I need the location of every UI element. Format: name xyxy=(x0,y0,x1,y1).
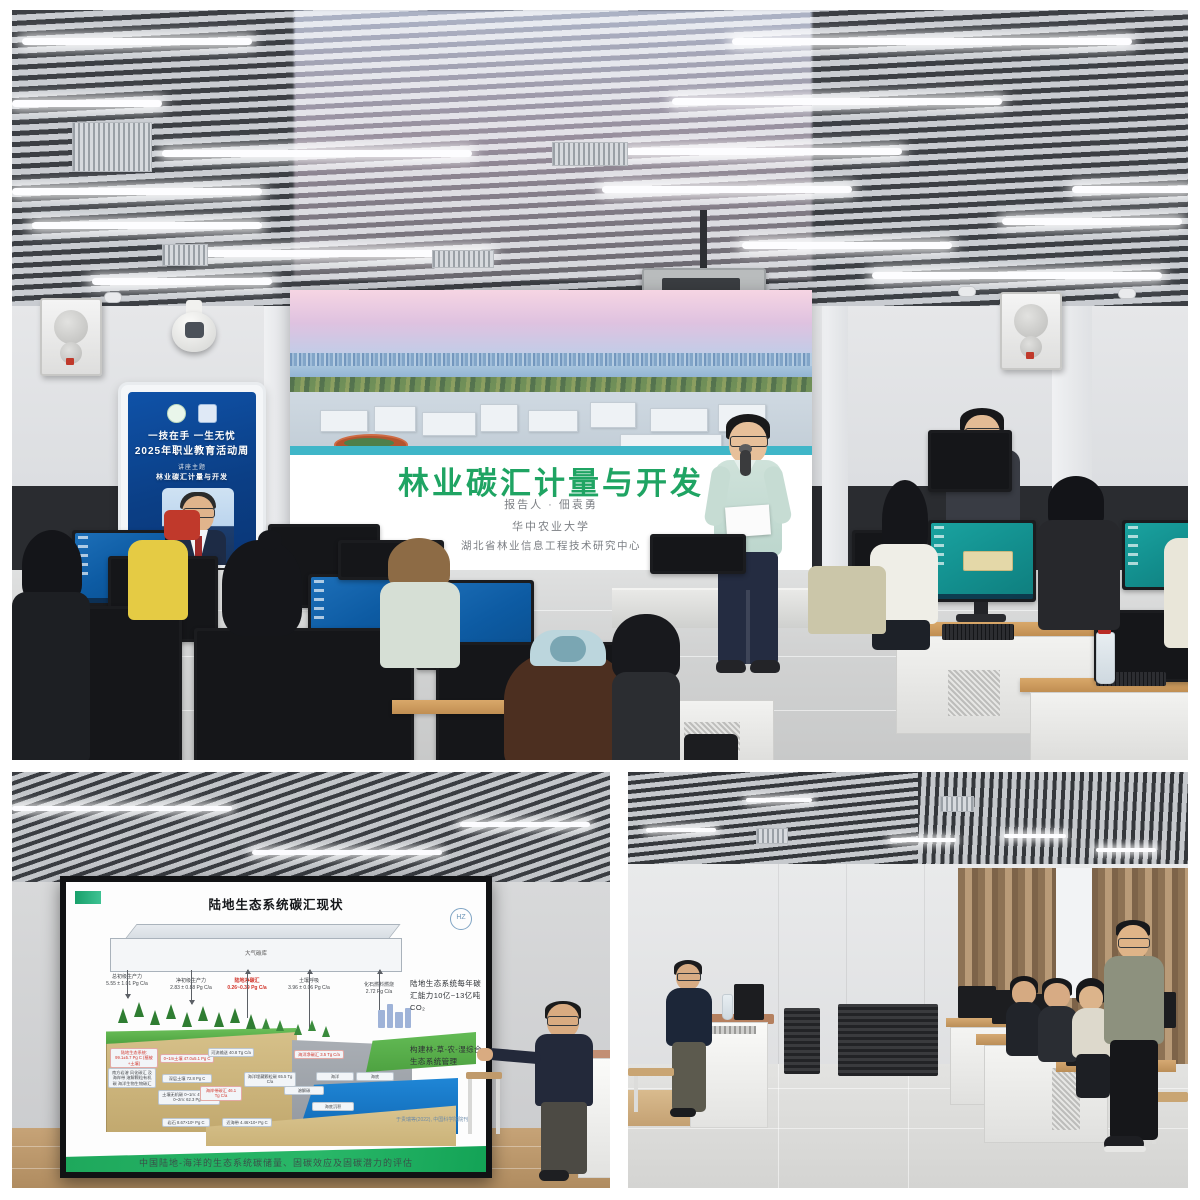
glasses-icon xyxy=(547,1016,579,1026)
ceiling-light xyxy=(646,828,716,832)
ceiling-light xyxy=(672,98,1002,105)
tree-icon xyxy=(294,1024,302,1035)
stool-leg xyxy=(468,1079,472,1134)
shoe-right xyxy=(750,660,780,673)
university-seal-icon: HZ xyxy=(450,908,472,930)
hair xyxy=(222,540,302,636)
monitor xyxy=(928,520,1036,602)
tree-icon xyxy=(322,1026,330,1037)
microphone-icon xyxy=(740,450,751,476)
atmosphere-box: 大气碳库 xyxy=(110,938,402,972)
stock-label-6: 河流输送 40.8 Tg C/a xyxy=(208,1048,254,1057)
air-vent xyxy=(552,142,628,166)
banner-sub-label: 讲座主题 xyxy=(128,462,256,471)
shoe-left xyxy=(716,660,746,673)
flux-arrow-down xyxy=(127,970,128,998)
logo-icon xyxy=(167,404,186,423)
ceiling-light xyxy=(742,242,952,249)
monitor xyxy=(928,430,1012,492)
slide-title: 陆地生态系统碳汇现状 xyxy=(66,894,486,913)
led-display: 陆地生态系统碳汇现状 HZ 大气碳库 总初级生产力 5.55 ± 1.01 Pg… xyxy=(60,876,492,1178)
building xyxy=(528,410,578,432)
keyboard xyxy=(942,624,1014,640)
ceiling-light xyxy=(162,150,472,157)
ocean-label-c: 溶解碳 xyxy=(284,1086,324,1095)
shoe xyxy=(670,1108,696,1117)
ceiling-light xyxy=(622,148,902,155)
desktop-window xyxy=(963,551,1013,571)
ceiling-light xyxy=(12,188,262,195)
tree-icon xyxy=(262,1018,270,1029)
camera-lens xyxy=(185,322,204,338)
tree-icon xyxy=(198,1006,208,1021)
building xyxy=(590,402,636,428)
ocean-label-a: 海洋 xyxy=(316,1072,354,1081)
flux-arrow-down xyxy=(191,970,192,1004)
stock-label-4: 岩石 8.67×10⁶ Pg C xyxy=(162,1118,210,1127)
ceiling-light xyxy=(12,100,162,107)
tree-icon xyxy=(118,1008,128,1023)
standing-student xyxy=(1104,920,1166,1162)
monitor-screen xyxy=(931,523,1033,599)
floor-tile-line xyxy=(908,1064,909,1188)
student-shirt xyxy=(1038,520,1120,630)
stock-label-0: 陆地生态系统: 99.1±5.7 Pg C (植被+土壤) xyxy=(110,1048,158,1068)
jacket-on-chair xyxy=(808,566,886,634)
slide-surface: 陆地生态系统碳汇现状 HZ 大气碳库 总初级生产力 5.55 ± 1.01 Pg… xyxy=(66,882,486,1172)
ceiling-light xyxy=(12,806,232,811)
stool-leg xyxy=(496,1079,500,1134)
smoke-detector xyxy=(958,286,976,297)
building xyxy=(374,406,416,432)
tree-icon xyxy=(230,1008,240,1023)
ptz-camera xyxy=(172,300,216,352)
tree-icon xyxy=(276,1020,284,1031)
seated-student xyxy=(208,540,312,660)
taskbar xyxy=(931,594,1033,599)
tree-icon xyxy=(214,1012,224,1027)
ceiling-light xyxy=(460,822,590,827)
glasses-icon xyxy=(1118,938,1150,948)
monitor-screen xyxy=(931,433,1009,489)
ceiling-light xyxy=(252,850,442,855)
stock-label-7: 海洋净碳汇 3.5 Tg C/a xyxy=(294,1050,344,1059)
desktop-icons xyxy=(1128,526,1138,566)
speaker-logo xyxy=(66,358,74,365)
speaker-logo xyxy=(1026,352,1034,359)
building xyxy=(480,404,518,432)
lecturer-polo-shirt xyxy=(535,1034,593,1106)
tree-icon xyxy=(134,1002,144,1017)
student-trousers xyxy=(1110,1040,1158,1140)
monitor xyxy=(958,986,996,1018)
tree-icon xyxy=(182,1012,192,1027)
ceiling-light xyxy=(602,186,852,193)
stool-seat xyxy=(466,1072,502,1079)
seated-student xyxy=(1006,976,1042,1056)
ocean-label-d: 海底沉积 xyxy=(312,1102,354,1111)
podium-speaker xyxy=(664,960,716,1126)
ceiling-light xyxy=(22,38,252,45)
city-icon xyxy=(387,1004,393,1028)
ceiling-light xyxy=(890,838,956,842)
stock-label-5: 近海带 4.46×10⁴ Pg C xyxy=(222,1118,272,1127)
air-vent xyxy=(432,250,494,268)
decorative-object xyxy=(164,510,200,540)
ceiling-light xyxy=(746,798,812,802)
ceiling-light xyxy=(92,278,272,285)
air-vent xyxy=(72,122,152,172)
banner-logos xyxy=(128,404,256,428)
glasses-icon xyxy=(677,973,701,981)
stock-label-1: 0~1m土壤 47.0±5.1 Pg C xyxy=(160,1054,214,1063)
seated-student xyxy=(1164,518,1188,648)
air-vent xyxy=(162,244,208,266)
student-shirt xyxy=(1006,1002,1042,1056)
head xyxy=(1044,983,1070,1008)
speaker-shirt xyxy=(666,988,712,1046)
city-icon xyxy=(395,1012,403,1028)
seated-student xyxy=(1038,476,1122,646)
floor-tile-line xyxy=(778,1064,779,1188)
ceiling-light xyxy=(1096,848,1156,852)
student-tshirt xyxy=(1104,956,1164,1044)
stool xyxy=(466,1072,502,1134)
atmosphere-label: 大气碳库 xyxy=(111,949,401,957)
tree-icon xyxy=(246,1014,256,1029)
student-shirt xyxy=(612,672,680,760)
stock-label-8: 海洋埋藏颗粒碳 65.5 Tg C/a xyxy=(244,1072,296,1087)
ceiling-baffles-right xyxy=(918,772,1188,870)
paper-sheet xyxy=(725,505,771,538)
computer-desk xyxy=(392,700,512,714)
slide-bottom-caption: 中国陆地-海洋的生态系统碳储量、固碳效应及固碳潜力的评估 xyxy=(66,1156,486,1169)
smoke-detector xyxy=(104,292,122,303)
bench xyxy=(628,1068,674,1076)
student-shirt xyxy=(380,582,460,668)
podium-monitor xyxy=(734,984,764,1020)
wall-speaker-right xyxy=(1000,292,1062,370)
trouser-crease xyxy=(746,590,750,664)
ceiling-light xyxy=(1004,834,1066,838)
speaker-cone xyxy=(1014,304,1048,338)
seated-student xyxy=(612,614,682,760)
tree-icon xyxy=(166,1004,176,1019)
desk-cabinet xyxy=(1030,692,1188,760)
bag xyxy=(684,734,738,760)
banner-line2: 2025年职业教育活动周 xyxy=(128,442,256,457)
wall-speaker-left xyxy=(40,298,102,376)
building xyxy=(320,410,368,432)
floor-speaker xyxy=(838,1004,938,1076)
speaker-trousers xyxy=(672,1042,706,1112)
hair-bun xyxy=(258,530,282,550)
hair xyxy=(612,614,680,680)
desktop-icons xyxy=(314,580,324,620)
ocean-label-b: 海底 xyxy=(356,1072,394,1081)
sneaker-sole xyxy=(1104,1146,1146,1152)
student-shirt xyxy=(1164,538,1188,648)
side-note-2: 构建林-草-农-湿综合生态系统管理 xyxy=(410,1044,482,1068)
head xyxy=(1079,986,1103,1010)
banner-sub-title: 林业碳汇计量与开发 xyxy=(128,472,256,482)
photo-collage: 一技在手 一生无忧 2025年职业教育活动周 讲座主题 林业碳汇计量与开发 xyxy=(0,0,1200,1200)
monitor-base xyxy=(956,614,1006,622)
wall-column xyxy=(822,306,848,606)
seated-student xyxy=(12,530,92,760)
building xyxy=(422,412,476,436)
water-bottle xyxy=(722,994,733,1020)
desk-vent-panel xyxy=(948,670,1000,716)
ceiling-light xyxy=(32,222,262,229)
bench-leg xyxy=(634,1076,638,1112)
ceiling-light xyxy=(732,38,1132,45)
tree-icon xyxy=(150,1010,160,1025)
top-photo: 一技在手 一生无忧 2025年职业教育活动周 讲座主题 林业碳汇计量与开发 xyxy=(12,10,1188,760)
emblem-icon xyxy=(198,404,217,423)
monitor xyxy=(650,534,746,574)
student-shirt xyxy=(128,540,188,620)
student-shirt xyxy=(12,592,90,760)
ceiling-light xyxy=(872,272,1162,279)
bottom-left-photo: 陆地生态系统碳汇现状 HZ 大气碳库 总初级生产力 5.55 ± 1.01 Pg… xyxy=(12,772,610,1188)
monitor-screen xyxy=(653,537,743,571)
smoke-detector xyxy=(1118,288,1136,299)
ceiling-light xyxy=(1002,218,1182,225)
city-icon xyxy=(378,1010,385,1028)
air-vent xyxy=(940,796,974,812)
bottom-right-photo xyxy=(628,772,1188,1188)
lecturer-trousers xyxy=(541,1102,587,1174)
stock-label-10: 南方岩溶 风化碳汇 及海岸带 溶解颗粒有机碳 海洋生物生物碳汇 xyxy=(108,1068,156,1088)
tree-icon xyxy=(308,1020,316,1031)
ceiling-light xyxy=(1072,186,1188,193)
flux-arrow-up xyxy=(247,970,248,1018)
stock-label-2: 深层土壤 72.8 Pg C xyxy=(162,1074,212,1083)
lecturer xyxy=(517,1004,603,1188)
cap-opening xyxy=(550,636,586,662)
seated-student xyxy=(128,530,198,620)
banner-line1: 一技在手 一生无忧 xyxy=(128,428,256,442)
ceiling-baffles xyxy=(12,772,610,892)
air-vent xyxy=(756,828,788,844)
speaker-cone xyxy=(54,310,88,344)
projector-mount-rod xyxy=(700,210,707,272)
seated-student xyxy=(380,538,464,664)
floor-speaker xyxy=(784,1008,820,1074)
shoe xyxy=(539,1170,569,1181)
side-note-1: 陆地生态系统每年碳汇能力10亿~13亿吨CO₂ xyxy=(410,978,482,1014)
pointing-hand xyxy=(477,1048,493,1061)
stock-label-9: 海岸带碳汇 46.1 Tg C/a xyxy=(200,1086,242,1101)
